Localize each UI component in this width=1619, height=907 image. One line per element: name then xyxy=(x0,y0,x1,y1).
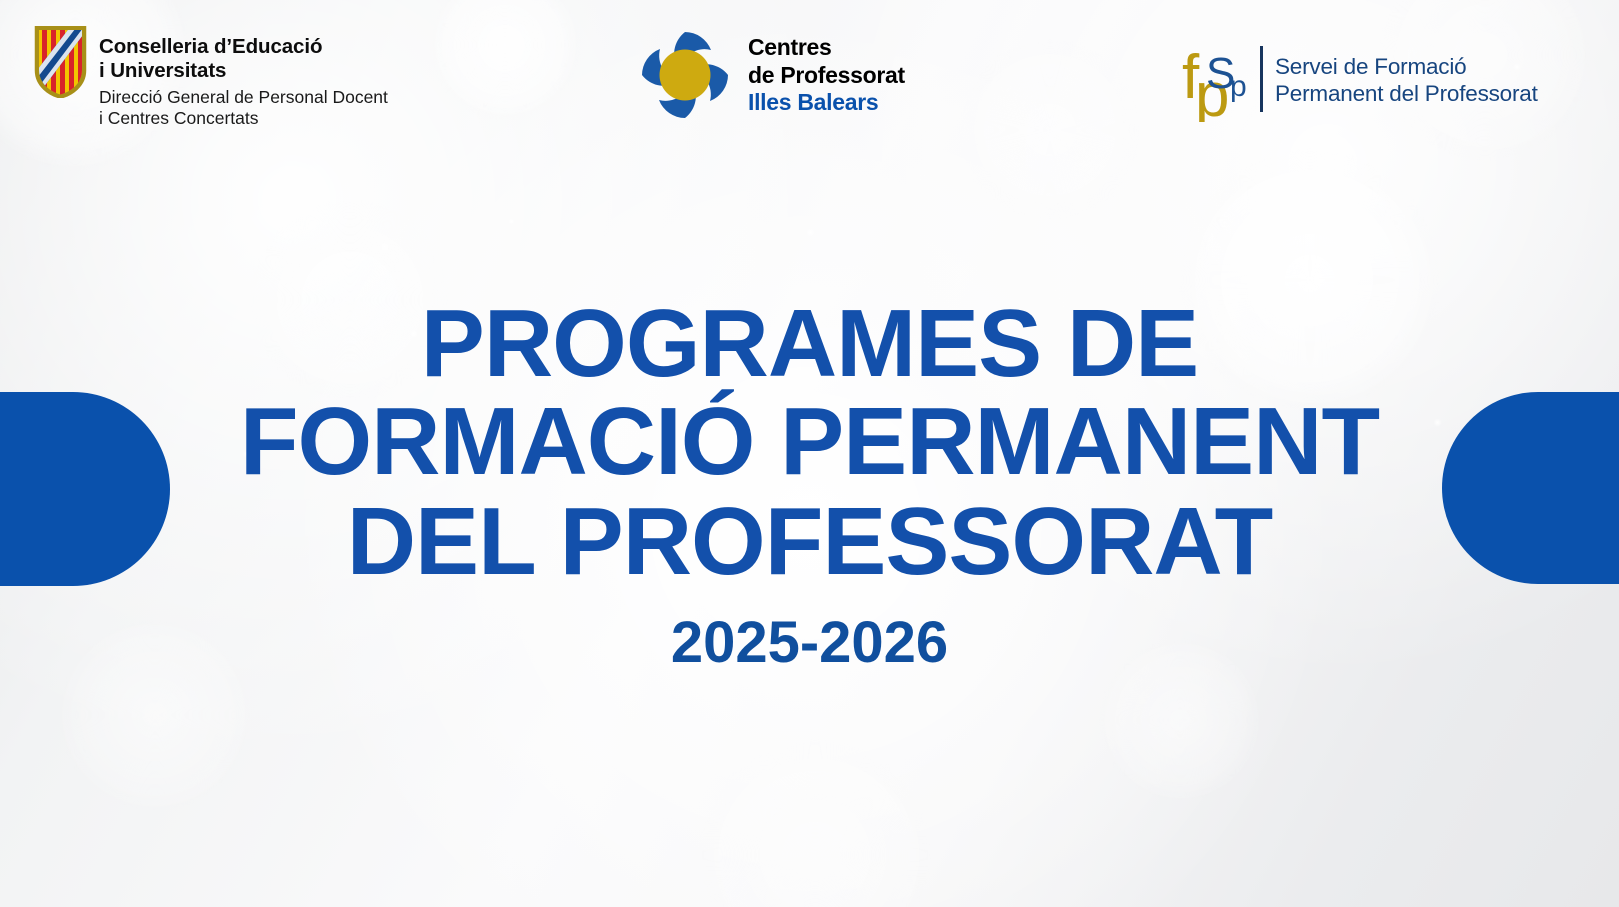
conselleria-line-2: i Universitats xyxy=(99,59,388,83)
centres-line-2: de Professorat xyxy=(748,62,905,89)
logo-centres-de-professorat: Centres de Professorat Illes Balears xyxy=(634,24,905,126)
page-title-line-1: PROGRAMES DE xyxy=(0,296,1619,392)
subtitle-academic-year: 2025-2026 xyxy=(0,614,1619,672)
logo-band: Conselleria d’Educació i Universitats Di… xyxy=(0,0,1619,160)
sfpp-divider xyxy=(1260,46,1263,112)
page-title-line-2: FORMACIÓ PERMANENT xyxy=(0,392,1619,492)
slide-canvas: Conselleria d’Educació i Universitats Di… xyxy=(0,0,1619,907)
servei-line-1: Servei de Formació xyxy=(1275,53,1538,80)
shield-icon xyxy=(34,26,87,98)
centres-line-3: Illes Balears xyxy=(748,89,905,116)
cdp-mark-icon xyxy=(634,24,736,126)
title-block: PROGRAMES DE FORMACIÓ PERMANENT DEL PROF… xyxy=(0,296,1619,672)
fsp-monogram-icon: f p S p xyxy=(1182,36,1256,122)
bokeh-sparkle xyxy=(508,218,515,225)
servei-line-2: Permanent del Professorat xyxy=(1275,80,1538,107)
conselleria-line-1: Conselleria d’Educació xyxy=(99,35,388,59)
conselleria-line-3: Direcció General de Personal Docent xyxy=(99,87,388,108)
conselleria-line-4: i Centres Concertats xyxy=(99,108,388,129)
bokeh-sparkle xyxy=(806,228,815,237)
bokeh-sparkle xyxy=(380,242,390,252)
logo-servei-formacio: f p S p Servei de Formació Permanent del… xyxy=(1182,36,1538,122)
page-title-line-3: DEL PROFESSORAT xyxy=(0,492,1619,592)
bokeh-circle xyxy=(700,740,930,907)
svg-text:p: p xyxy=(1230,70,1247,103)
centres-line-1: Centres xyxy=(748,34,905,61)
